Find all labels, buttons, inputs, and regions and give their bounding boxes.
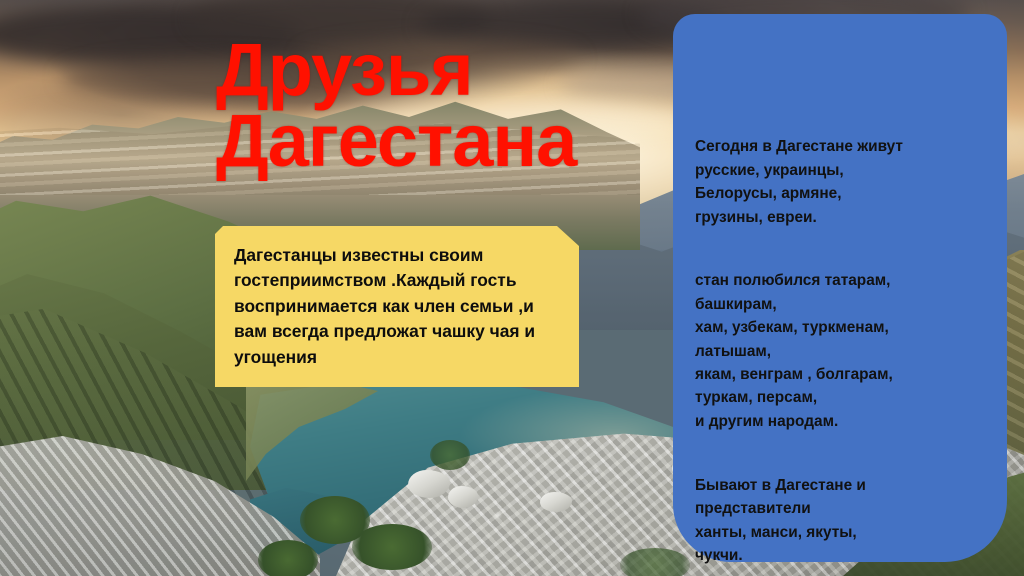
yellow-callout-text: Дагестанцы известны своим гостеприимство… <box>234 243 564 370</box>
slide-title: Друзья Дагестана <box>216 34 686 176</box>
blue-panel-paragraph-2: стан полюбился татарам, башкирам, хам, у… <box>695 269 995 433</box>
shrub <box>430 440 470 470</box>
shrub <box>620 548 690 576</box>
presentation-slide: Друзья Дагестана Дагестанцы известны сво… <box>0 0 1024 576</box>
blue-panel-paragraph-1: Сегодня в Дагестане живут русские, украи… <box>695 135 995 229</box>
shrub <box>352 524 432 570</box>
blue-panel-paragraph-3: Бывают в Дагестане и представители ханты… <box>695 474 995 568</box>
shrub <box>258 540 318 576</box>
blue-panel-text: Сегодня в Дагестане живут русские, украи… <box>695 112 995 576</box>
